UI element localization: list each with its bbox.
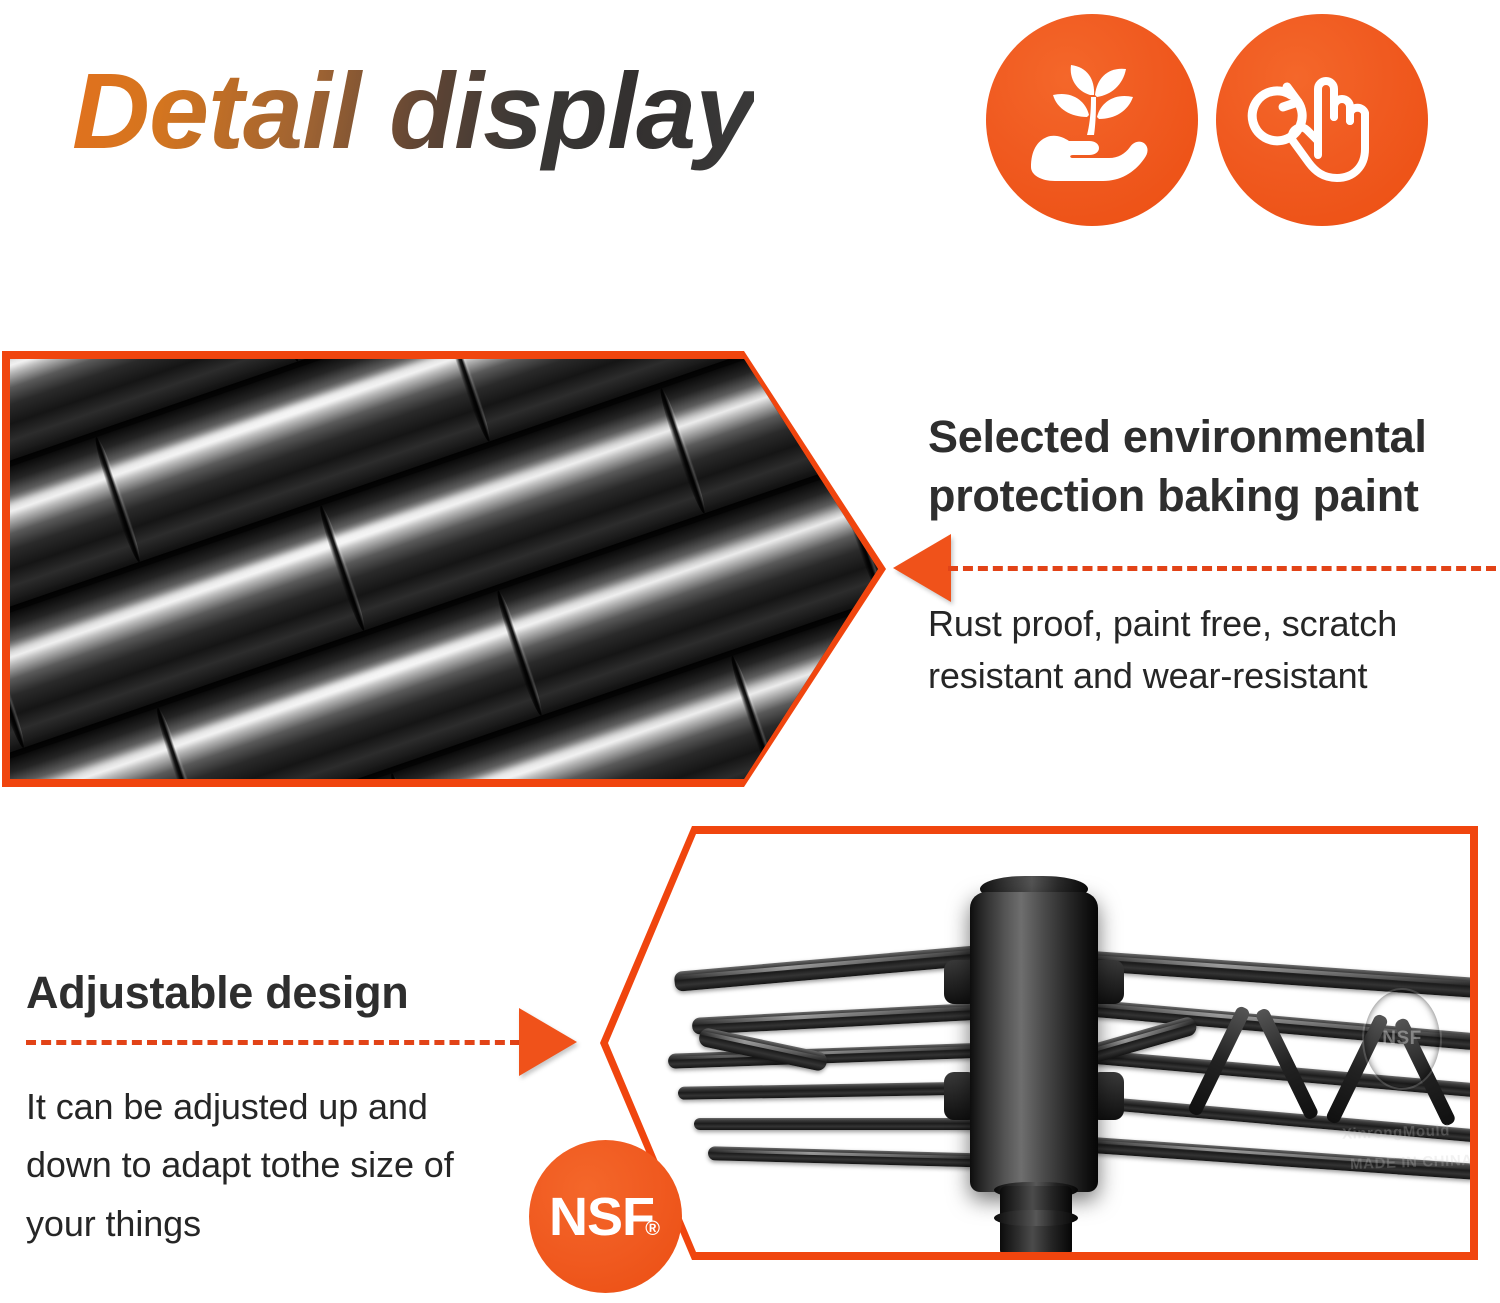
product-detail-page: Detail display Detail display bbox=[0, 0, 1500, 1303]
adjustable-design-heading: Adjustable design bbox=[26, 966, 506, 1020]
page-header: Detail display Detail display bbox=[0, 0, 1500, 240]
nsf-embossed-logo: NSF bbox=[1362, 988, 1442, 1090]
post-sleeve-clip: NSF XinrongMould MADE IN CHINA bbox=[970, 892, 1098, 1192]
nsf-badge-label: NSF bbox=[549, 1190, 654, 1244]
adjustable-design-pointer-arrow bbox=[519, 1008, 577, 1076]
nsf-registered-mark: ® bbox=[645, 1218, 660, 1241]
embossed-brand-text: XinrongMould bbox=[1342, 1122, 1451, 1143]
page-title: Detail display bbox=[72, 52, 754, 171]
nsf-embossed-logo-text: NSF bbox=[1382, 1028, 1422, 1050]
shelf-post-illustration: NSF XinrongMould MADE IN CHINA bbox=[608, 834, 1470, 1252]
baking-paint-dashed-line bbox=[948, 566, 1496, 571]
baking-paint-text-block: Selected environmental protection baking… bbox=[928, 408, 1500, 525]
hand-holding-plant-icon bbox=[1017, 45, 1167, 195]
nsf-certification-badge: NSF ® bbox=[529, 1140, 682, 1293]
adjustable-design-photo: NSF XinrongMould MADE IN CHINA bbox=[608, 834, 1470, 1252]
coated-rods-illustration bbox=[10, 359, 878, 779]
adjustable-design-dashed-line bbox=[26, 1040, 520, 1045]
adjustable-design-description: It can be adjusted up and down to adapt … bbox=[26, 1078, 476, 1253]
baking-paint-description: Rust proof, paint free, scratch resistan… bbox=[928, 598, 1468, 702]
baking-paint-heading: Selected environmental protection baking… bbox=[928, 408, 1500, 525]
baking-paint-pointer-arrow bbox=[893, 534, 951, 602]
baking-paint-photo-panel bbox=[2, 351, 886, 787]
pointing-hand-rotate-icon bbox=[1247, 45, 1397, 195]
eco-friendly-badge bbox=[986, 14, 1198, 226]
post-ring-lower bbox=[994, 1210, 1078, 1226]
adjustable-design-photo-panel: NSF XinrongMould MADE IN CHINA bbox=[600, 826, 1478, 1260]
adjustable-badge bbox=[1216, 14, 1428, 226]
baking-paint-photo bbox=[10, 359, 878, 779]
adjustable-design-text-block: Adjustable design bbox=[26, 966, 506, 1020]
